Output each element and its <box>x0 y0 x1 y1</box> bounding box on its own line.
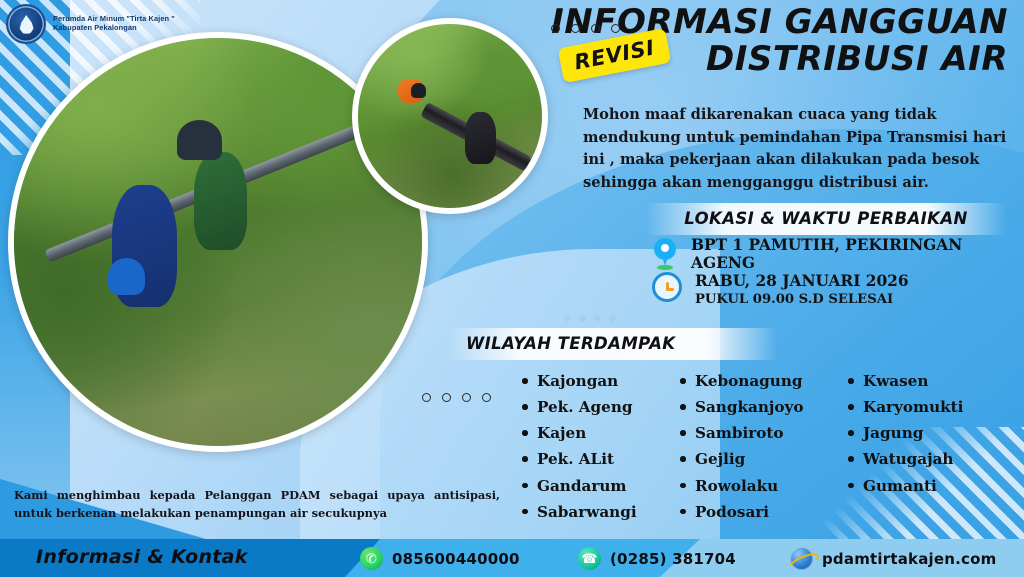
areas-column-3: Kwasen Karyomukti Jagung Watugajah Guman… <box>846 368 1006 525</box>
page-title: INFORMASI GANGGUAN DISTRIBUSI AIR <box>428 4 1008 77</box>
list-item: Kwasen <box>846 368 1006 394</box>
helmet-icon <box>108 258 145 295</box>
dot-icon <box>442 393 451 402</box>
date-value: RABU, 28 JANUARI 2026 <box>695 272 909 291</box>
brand-name: Perumda Air Minum "Tirta Kajen " Kabupat… <box>53 15 175 32</box>
contact-website[interactable]: pdamtirtakajen.com <box>790 547 996 570</box>
water-drop-seal-logo <box>6 4 46 44</box>
water-drop-icon <box>18 14 34 34</box>
poster-canvas: Perumda Air Minum "Tirta Kajen " Kabupat… <box>0 0 1024 577</box>
list-item: Rowolaku <box>678 473 838 499</box>
brand-logo: Perumda Air Minum "Tirta Kajen " Kabupat… <box>6 4 175 44</box>
areas-column-2: Kebonagung Sangkanjoyo Sambiroto Gejlig … <box>678 368 838 525</box>
contact-whatsapp[interactable]: ✆ 085600440000 <box>360 547 520 570</box>
areas-dot-decoration <box>422 393 491 402</box>
dot-icon <box>462 393 471 402</box>
list-item: Podosari <box>678 499 838 525</box>
globe-icon <box>790 547 813 570</box>
list-item: Kajen <box>520 420 670 446</box>
list-item: Sangkanjoyo <box>678 394 838 420</box>
flower-icon: ❖ <box>608 315 617 324</box>
phone-number: (0285) 381704 <box>610 550 736 568</box>
list-item: Jagung <box>846 420 1006 446</box>
list-item: Kebonagung <box>678 368 838 394</box>
title-dot-decoration <box>551 24 620 33</box>
list-item: Sambiroto <box>678 420 838 446</box>
whatsapp-icon: ✆ <box>360 547 383 570</box>
list-item: Gandarum <box>520 473 670 499</box>
flower-icon: ❖ <box>563 315 572 324</box>
dot-icon <box>482 393 491 402</box>
list-item: Gejlig <box>678 446 838 472</box>
worker-shape <box>194 152 247 250</box>
list-item: Watugajah <box>846 446 1006 472</box>
location-section-banner: LOKASI & WAKTU PERBAIKAN <box>646 203 1006 235</box>
dot-icon <box>591 24 600 33</box>
flower-icon: ❖ <box>593 315 602 324</box>
announcement-paragraph: Mohon maaf dikarenakan cuaca yang tidak … <box>583 104 1015 194</box>
map-pin-icon <box>652 238 678 270</box>
dot-icon <box>611 24 620 33</box>
clock-icon <box>652 272 682 302</box>
list-item: Pek. ALit <box>520 446 670 472</box>
dot-icon <box>571 24 580 33</box>
location-value: BPT 1 PAMUTIH, PEKIRINGAN AGENG <box>691 236 1024 272</box>
list-item: Karyomukti <box>846 394 1006 420</box>
time-value: PUKUL 09.00 S.D SELESAI <box>695 291 909 308</box>
worker-head-shape <box>177 120 222 161</box>
footer-bar: Informasi & Kontak ✆ 085600440000 ☎ (028… <box>0 539 1024 577</box>
time-block: RABU, 28 JANUARI 2026 PUKUL 09.00 S.D SE… <box>695 272 909 308</box>
website-url: pdamtirtakajen.com <box>822 550 996 568</box>
list-item: Sabarwangi <box>520 499 670 525</box>
contact-phone[interactable]: ☎ (0285) 381704 <box>578 547 736 570</box>
areas-column-1: Kajongan Pek. Ageng Kajen Pek. ALit Gand… <box>520 368 670 525</box>
brand-line-2: Kabupaten Pekalongan <box>53 24 175 33</box>
disclaimer-text: Kami menghimbau kepada Pelanggan PDAM se… <box>14 486 500 523</box>
areas-section-banner: WILAYAH TERDAMPAK <box>448 328 778 360</box>
location-row: BPT 1 PAMUTIH, PEKIRINGAN AGENG <box>652 236 1024 272</box>
dot-icon <box>551 24 560 33</box>
list-item: Pek. Ageng <box>520 394 670 420</box>
phone-icon: ☎ <box>578 547 601 570</box>
list-item: Gumanti <box>846 473 1006 499</box>
title-line-1: INFORMASI GANGGUAN <box>428 4 1008 41</box>
affected-areas-list: Kajongan Pek. Ageng Kajen Pek. ALit Gand… <box>520 368 1020 525</box>
cap-icon <box>411 83 426 98</box>
worker-shape <box>465 112 496 164</box>
title-line-2: DISTRIBUSI AIR <box>428 41 1008 78</box>
footer-label: Informasi & Kontak <box>36 546 248 568</box>
dot-icon <box>422 393 431 402</box>
time-row: RABU, 28 JANUARI 2026 PUKUL 09.00 S.D SE… <box>652 272 909 308</box>
list-item: Kajongan <box>520 368 670 394</box>
whatsapp-number: 085600440000 <box>392 550 520 568</box>
flower-icon: ❖ <box>578 315 587 324</box>
flower-decoration: ❖ ❖ ❖ ❖ <box>563 315 617 324</box>
